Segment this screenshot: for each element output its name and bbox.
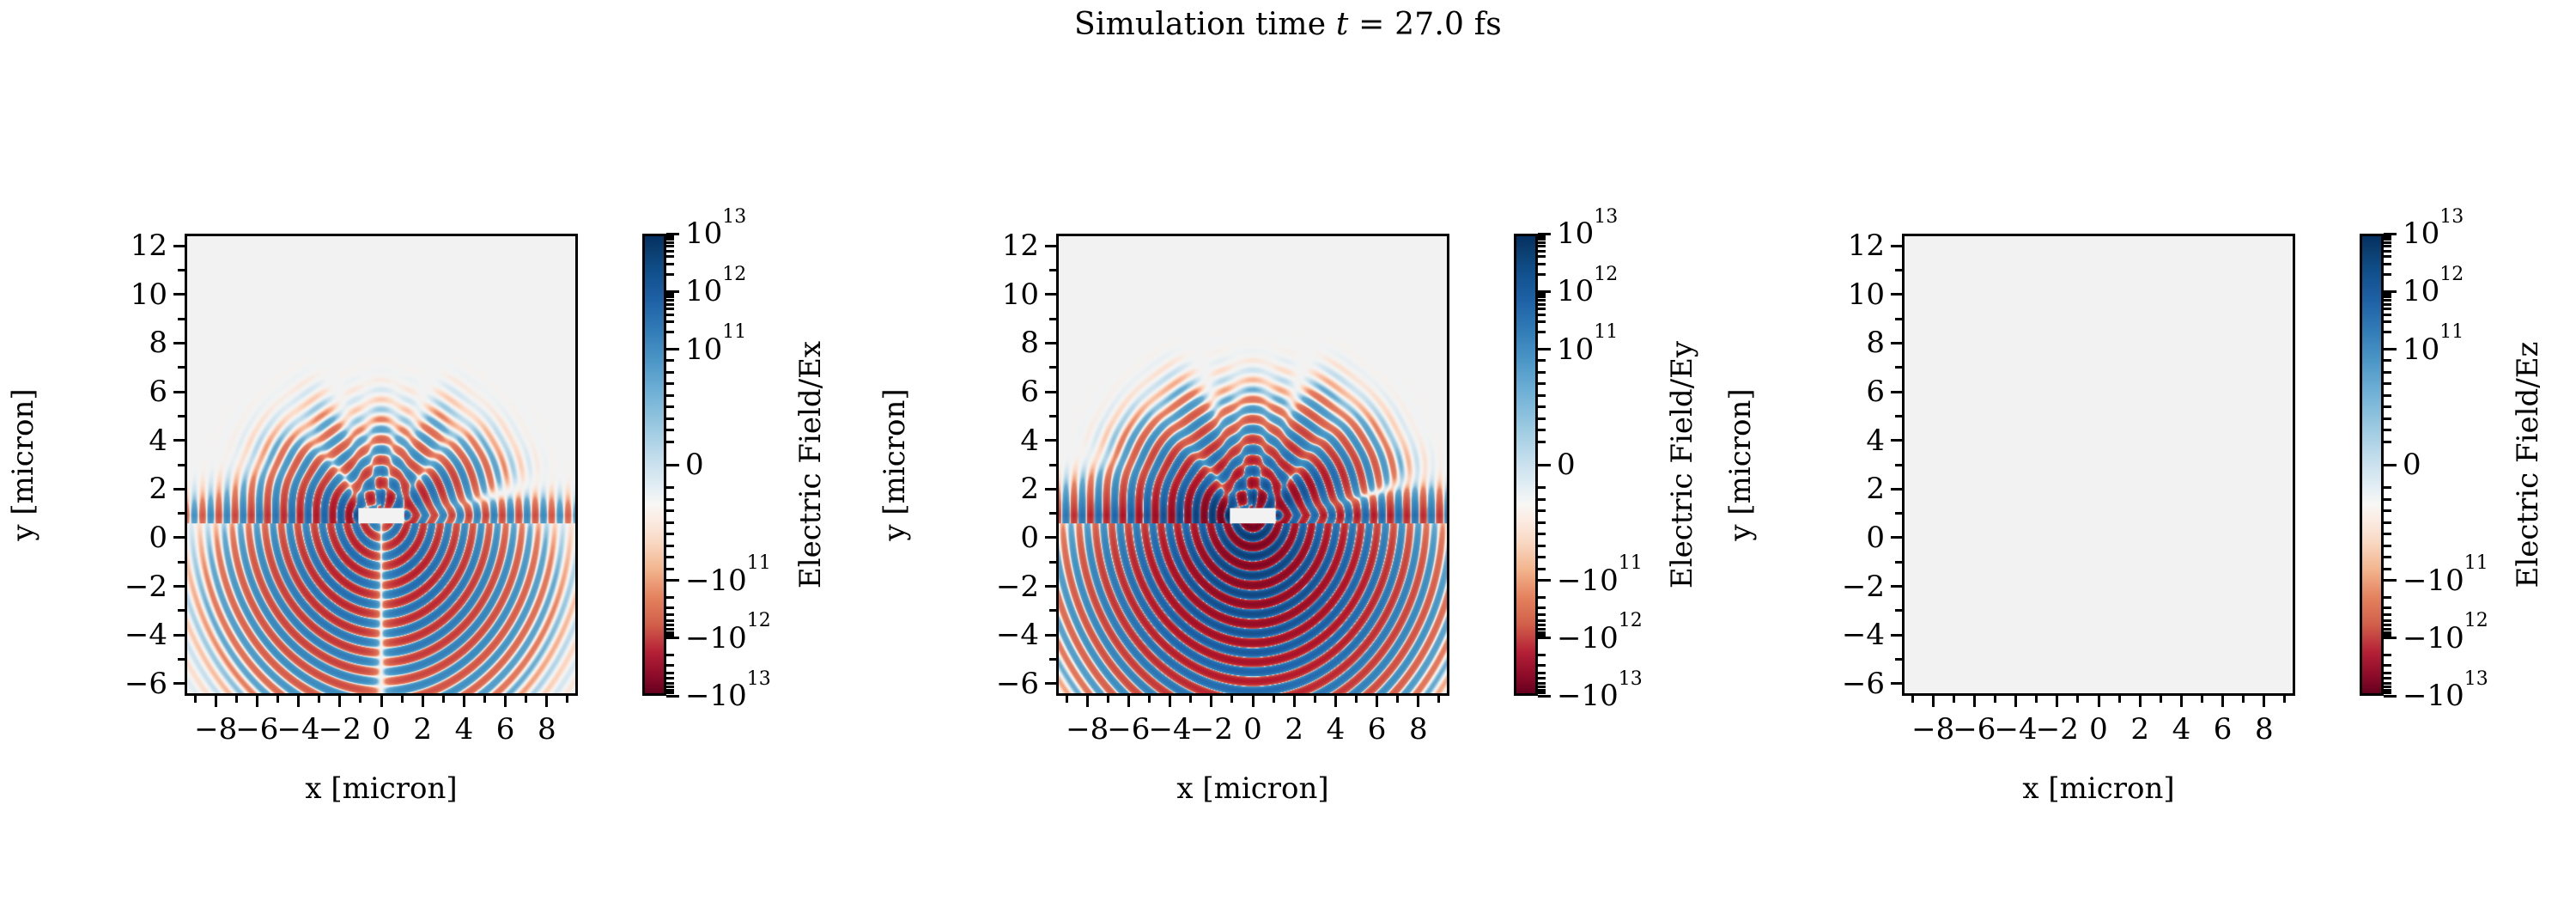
y-tick-ez [1895,609,1902,612]
colorbar-minor-tick-ez [2384,241,2391,244]
colorbar-minor-tick-ez [2384,303,2391,306]
colorbar-minor-tick-ex [666,654,674,656]
colorbar-minor-tick-ex [666,320,674,323]
y-tick-label-ez: 4 [1773,426,1885,455]
x-tick-ex [422,696,424,707]
colorbar-tick-label-ey: 1011 [1557,335,1618,364]
colorbar-minor-tick-ey [1538,293,1546,296]
y-tick-label-ez: −6 [1773,669,1885,698]
colorbar-minor-tick-ex [666,296,674,298]
x-tick-ey [1148,696,1151,703]
colorbar-tick-label-ex: −1011 [685,566,771,595]
colorbar-minor-tick-ex [666,509,674,512]
colorbar-minor-tick-ex [666,263,674,265]
colorbar-tick-label-ex: −1012 [685,624,771,653]
colorbar-minor-tick-ez [2384,331,2391,333]
colorbar-minor-tick-ex [666,682,674,685]
colorbar-minor-tick-ey [1538,405,1546,408]
axes-ey[interactable] [1056,234,1449,696]
colorbar-minor-tick-ez [2384,672,2391,674]
x-tick-label-ex: 2 [413,715,432,744]
y-tick-ez [1895,269,1902,271]
figure-title-prefix: Simulation time [1074,7,1336,42]
y-tick-label-ex: 12 [56,231,167,260]
colorbar-minor-tick-ez [2384,255,2391,258]
colorbar-minor-tick-ex [666,486,674,489]
colorbar-minor-tick-ez [2384,441,2391,443]
y-tick-ez [1895,318,1902,320]
y-tick-ez [1891,488,1902,491]
x-tick-ex [297,696,300,707]
colorbar-minor-tick-ex [666,250,674,253]
field-map-ey [1059,236,1447,693]
colorbar-minor-tick-ey [1538,296,1546,298]
colorbar-minor-tick-ez [2384,238,2391,241]
x-tick-ey [1273,696,1275,703]
x-tick-ez [1953,696,1955,703]
x-tick-ex [256,696,258,707]
x-tick-ey [1293,696,1296,707]
colorbar-minor-tick-ey [1538,394,1546,397]
colorbar-minor-tick-ex [666,382,674,385]
colorbar-minor-tick-ey [1538,568,1546,570]
x-tick-ez [1932,696,1935,707]
colorbar-minor-tick-ex [666,613,674,616]
colorbar-minor-tick-ex [666,545,674,547]
colorbar-minor-tick-ez [2384,509,2391,512]
x-tick-ey [1314,696,1316,703]
y-tick-label-ey: 6 [927,377,1039,406]
x-tick-ex [463,696,465,707]
colorbar-minor-tick-ez [2384,628,2391,631]
colorbar-tick-label-ey: 1012 [1557,277,1618,306]
colorbar-minor-tick-ey [1538,677,1546,680]
colorbar-minor-tick-ey [1538,606,1546,609]
colorbar-minor-tick-ex [666,394,674,397]
x-tick-ey [1437,696,1440,703]
y-tick-ey [1049,366,1056,369]
colorbar-minor-tick-ex [666,596,674,599]
colorbar-minor-tick-ey [1538,245,1546,247]
y-tick-ex [173,488,185,491]
x-tick-ex [338,696,341,707]
x-tick-label-ey: −4 [1149,715,1192,744]
colorbar-tick-ex [666,695,679,698]
y-tick-ex [178,561,185,564]
colorbar-tick-ey [1538,579,1551,582]
colorbar-minor-tick-ez [2384,250,2391,253]
x-tick-ex [566,696,568,703]
y-axis-label-ey: y [micron] [879,336,910,594]
y-tick-ex [173,634,185,637]
y-tick-ex [173,536,185,539]
x-tick-ex [401,696,404,703]
y-tick-ey [1045,536,1056,539]
x-tick-label-ey: 4 [1327,715,1346,744]
colorbar-minor-tick-ez [2384,682,2391,685]
colorbar-minor-tick-ex [666,498,674,501]
axes-ex[interactable] [185,234,578,696]
colorbar-minor-tick-ez [2384,371,2391,374]
colorbar-minor-tick-ex [666,634,674,637]
y-tick-ez [1895,561,1902,564]
y-tick-ex [178,464,185,466]
colorbar-minor-tick-ez [2384,498,2391,501]
x-tick-ex [483,696,486,703]
colorbar-minor-tick-ez [2384,556,2391,558]
colorbar-label-ey: Electric Field/Ey [1667,241,1698,688]
colorbar-minor-tick-ey [1538,545,1546,547]
x-tick-ey [1376,696,1378,707]
y-tick-label-ex: 10 [56,280,167,309]
x-tick-label-ez: 0 [2089,715,2108,744]
colorbar-tick-label-ey: 1013 [1557,219,1618,248]
colorbar-minor-tick-ez [2384,677,2391,680]
y-tick-ey [1045,245,1056,247]
colorbar-tick-label-ez: 0 [2403,450,2421,479]
x-tick-label-ex: −6 [235,715,278,744]
colorbar-minor-tick-ez [2384,692,2391,694]
x-tick-label-ez: 4 [2172,715,2191,744]
y-tick-ez [1891,245,1902,247]
colorbar-minor-tick-ey [1538,263,1546,265]
y-tick-label-ey: −2 [927,572,1039,601]
x-tick-ex [235,696,238,703]
y-tick-ey [1049,464,1056,466]
x-tick-ex [215,696,217,707]
colorbar-minor-tick-ez [2384,429,2391,431]
colorbar-minor-tick-ex [666,359,674,362]
colorbar-minor-tick-ey [1538,682,1546,685]
y-tick-ez [1891,342,1902,344]
colorbar-minor-tick-ey [1538,672,1546,674]
x-tick-label-ey: 0 [1243,715,1262,744]
colorbar-minor-tick-ey [1538,308,1546,310]
colorbar-minor-tick-ex [666,677,674,680]
y-tick-ex [178,609,185,612]
colorbar-minor-tick-ez [2384,296,2391,298]
x-tick-ey [1189,696,1192,703]
colorbar-ex[interactable] [642,234,666,696]
colorbar-minor-tick-ey [1538,533,1546,535]
y-tick-ey [1049,415,1056,417]
colorbar-minor-tick-ez [2384,314,2391,316]
y-tick-ey [1045,342,1056,344]
y-tick-label-ez: −2 [1773,572,1885,601]
y-tick-ex [178,658,185,661]
colorbar-minor-tick-ez [2384,245,2391,247]
x-tick-label-ez: −4 [1995,715,2038,744]
y-tick-ez [1891,536,1902,539]
colorbar-tick-label-ex: 1012 [685,277,746,306]
x-tick-ex [442,696,445,703]
colorbar-minor-tick-ex [666,441,674,443]
x-tick-label-ex: 4 [455,715,474,744]
x-tick-ey [1230,696,1233,703]
colorbar-minor-tick-ey [1538,634,1546,637]
colorbar-minor-tick-ex [666,299,674,302]
y-tick-ez [1891,585,1902,588]
colorbar-tick-label-ez: −1011 [2403,566,2488,595]
colorbar-minor-tick-ez [2384,664,2391,667]
y-tick-label-ey: −6 [927,669,1039,698]
colorbar-minor-tick-ez [2384,359,2391,362]
y-tick-ez [1891,293,1902,296]
colorbar-minor-tick-ex [666,606,674,609]
colorbar-minor-tick-ey [1538,359,1546,362]
y-tick-ey [1045,488,1056,491]
colorbar-minor-tick-ey [1538,382,1546,385]
colorbar-minor-tick-ey [1538,417,1546,420]
y-tick-ey [1049,269,1056,271]
x-tick-ex [194,696,197,703]
figure-title-variable: t [1336,7,1349,42]
colorbar-tick-label-ez: 1013 [2403,219,2464,248]
y-tick-ez [1891,634,1902,637]
colorbar-minor-tick-ex [666,672,674,674]
colorbar-tick-ez [2384,637,2397,639]
x-tick-ez [2056,696,2058,707]
y-tick-label-ey: 2 [927,474,1039,503]
colorbar-tick-label-ey: −1011 [1557,566,1643,595]
x-tick-label-ex: −4 [277,715,320,744]
colorbar-minor-tick-ey [1538,235,1546,238]
colorbar-minor-tick-ez [2384,320,2391,323]
colorbar-tick-ex [666,637,679,639]
x-tick-label-ey: 2 [1285,715,1303,744]
colorbar-tick-label-ey: −1013 [1557,681,1643,710]
y-tick-ex [173,391,185,393]
colorbar-minor-tick-ex [666,628,674,631]
x-tick-label-ez: 8 [2255,715,2274,744]
colorbar-minor-tick-ex [666,533,674,535]
colorbar-minor-tick-ez [2384,545,2391,547]
x-tick-ey [1210,696,1212,707]
x-tick-ez [2098,696,2100,707]
colorbar-minor-tick-ez [2384,486,2391,489]
y-tick-label-ey: 8 [927,328,1039,357]
y-tick-ez [1895,366,1902,369]
colorbar-minor-tick-ex [666,405,674,408]
colorbar-tick-ez [2384,695,2397,698]
colorbar-label-ez: Electric Field/Ez [2512,241,2543,688]
colorbar-minor-tick-ey [1538,320,1546,323]
y-tick-ex [173,585,185,588]
colorbar-minor-tick-ex [666,417,674,420]
x-axis-label-ez: x [micron] [1902,773,2295,804]
y-tick-label-ex: 4 [56,426,167,455]
y-axis-label-ez: y [micron] [1725,336,1756,594]
y-tick-ex [173,682,185,685]
colorbar-minor-tick-ex [666,308,674,310]
colorbar-minor-tick-ey [1538,331,1546,333]
y-tick-label-ez: 8 [1773,328,1885,357]
colorbar-tick-label-ex: 1013 [685,219,746,248]
y-tick-ex [178,318,185,320]
colorbar-minor-tick-ez [2384,654,2391,656]
x-tick-ex [276,696,279,703]
colorbar-minor-tick-ey [1538,521,1546,524]
colorbar-minor-tick-ey [1538,556,1546,558]
x-tick-ex [380,696,383,707]
x-tick-label-ex: −2 [319,715,361,744]
colorbar-tick-ey [1538,637,1551,639]
colorbar-ez[interactable] [2360,234,2384,696]
colorbar-minor-tick-ex [666,556,674,558]
x-tick-ey [1066,696,1068,703]
colorbar-minor-tick-ez [2384,273,2391,276]
x-axis-label-ey: x [micron] [1056,773,1449,804]
x-tick-ez [1911,696,1914,703]
x-tick-label-ez: −8 [1911,715,1954,744]
colorbar-minor-tick-ex [666,619,674,622]
colorbar-minor-tick-ex [666,293,674,296]
colorbar-minor-tick-ey [1538,613,1546,616]
y-tick-ex [178,415,185,417]
colorbar-minor-tick-ez [2384,606,2391,609]
axes-ez[interactable] [1902,234,2295,696]
x-tick-ez [1994,696,1996,703]
x-tick-ex [318,696,320,703]
colorbar-minor-tick-ez [2384,634,2391,637]
colorbar-minor-tick-ez [2384,613,2391,616]
y-tick-label-ex: −2 [56,572,167,601]
colorbar-tick-label-ey: −1012 [1557,624,1643,653]
colorbar-minor-tick-ey [1538,486,1546,489]
x-tick-ey [1417,696,1419,707]
x-tick-ez [2242,696,2245,703]
y-tick-ez [1895,464,1902,466]
x-tick-ez [2180,696,2183,707]
y-tick-label-ez: 6 [1773,377,1885,406]
x-tick-ez [2076,696,2079,703]
y-tick-ey [1045,682,1056,685]
x-tick-label-ey: −6 [1107,715,1150,744]
colorbar-minor-tick-ex [666,235,674,238]
y-tick-ez [1895,658,1902,661]
colorbar-minor-tick-ez [2384,624,2391,626]
colorbar-minor-tick-ez [2384,596,2391,599]
colorbar-minor-tick-ex [666,568,674,570]
colorbar-minor-tick-ey [1538,686,1546,688]
colorbar-minor-tick-ex [666,429,674,431]
colorbar-minor-tick-ex [666,371,674,374]
y-tick-ez [1895,512,1902,515]
colorbar-tick-label-ex: 1011 [685,335,746,364]
y-tick-ex [173,293,185,296]
colorbar-tick-ey [1538,348,1551,350]
colorbar-minor-tick-ey [1538,429,1546,431]
field-map-ez [1905,236,2293,693]
y-tick-label-ex: −4 [56,620,167,649]
y-tick-label-ey: −4 [927,620,1039,649]
colorbar-minor-tick-ex [666,273,674,276]
x-axis-label-ex: x [micron] [185,773,578,804]
colorbar-minor-tick-ez [2384,619,2391,622]
field-map-ex [187,236,575,693]
y-tick-label-ex: 6 [56,377,167,406]
x-tick-ey [1127,696,1130,707]
x-tick-label-ex: 0 [372,715,391,744]
colorbar-minor-tick-ez [2384,293,2391,296]
x-tick-ez [2221,696,2224,707]
colorbar-minor-tick-ex [666,331,674,333]
y-tick-label-ey: 12 [927,231,1039,260]
figure-title-value: = 27.0 fs [1349,7,1502,42]
colorbar-minor-tick-ez [2384,382,2391,385]
colorbar-minor-tick-ex [666,664,674,667]
colorbar-minor-tick-ex [666,624,674,626]
y-tick-label-ez: 12 [1773,231,1885,260]
colorbar-tick-label-ez: −1013 [2403,681,2488,710]
colorbar-minor-tick-ey [1538,441,1546,443]
y-tick-ex [178,512,185,515]
y-tick-ey [1049,609,1056,612]
y-tick-ex [178,366,185,369]
colorbar-tick-ex [666,579,679,582]
x-tick-label-ex: 6 [496,715,515,744]
colorbar-minor-tick-ey [1538,250,1546,253]
x-tick-ez [2014,696,2017,707]
colorbar-minor-tick-ex [666,303,674,306]
colorbar-minor-tick-ey [1538,498,1546,501]
x-tick-ez [2035,696,2038,703]
y-axis-label-ex: y [micron] [8,336,39,594]
colorbar-minor-tick-ey [1538,509,1546,512]
x-tick-ex [545,696,548,707]
colorbar-minor-tick-ey [1538,624,1546,626]
colorbar-minor-tick-ey [1538,241,1546,244]
y-tick-ey [1045,391,1056,393]
colorbar-tick-ey [1538,695,1551,698]
colorbar-minor-tick-ez [2384,394,2391,397]
colorbar-minor-tick-ex [666,241,674,244]
x-tick-ez [1973,696,1976,707]
colorbar-minor-tick-ex [666,245,674,247]
colorbar-minor-tick-ex [666,314,674,316]
x-tick-label-ey: 8 [1409,715,1428,744]
colorbar-label-ex: Electric Field/Ex [795,241,826,688]
colorbar-minor-tick-ey [1538,255,1546,258]
y-tick-ey [1049,318,1056,320]
x-tick-ey [1086,696,1089,707]
y-tick-label-ez: 2 [1773,474,1885,503]
y-tick-ey [1045,293,1056,296]
x-tick-label-ez: 2 [2130,715,2149,744]
colorbar-minor-tick-ez [2384,405,2391,408]
colorbar-tick-label-ez: 1011 [2403,335,2464,364]
colorbar-minor-tick-ey [1538,692,1546,694]
colorbar-tick-ez [2384,348,2397,350]
y-tick-label-ey: 10 [927,280,1039,309]
y-tick-label-ex: −6 [56,669,167,698]
colorbar-minor-tick-ez [2384,417,2391,420]
colorbar-tick-ey [1538,464,1551,466]
y-tick-label-ez: 0 [1773,523,1885,552]
y-tick-label-ex: 2 [56,474,167,503]
colorbar-minor-tick-ex [666,255,674,258]
colorbar-tick-label-ex: 0 [685,450,704,479]
colorbar-minor-tick-ey [1538,273,1546,276]
x-tick-label-ex: −8 [194,715,237,744]
y-tick-ey [1045,634,1056,637]
x-tick-label-ez: −6 [1953,715,1996,744]
x-tick-ez [2263,696,2265,707]
y-tick-ey [1045,439,1056,442]
colorbar-minor-tick-ey [1538,299,1546,302]
colorbar-ey[interactable] [1514,234,1538,696]
x-tick-ez [2201,696,2203,703]
